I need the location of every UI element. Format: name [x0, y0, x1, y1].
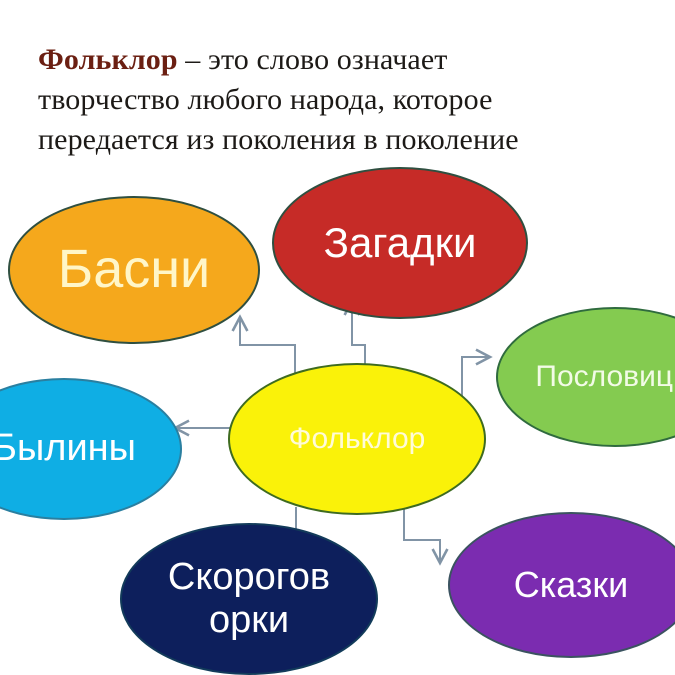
folklore-mind-map-slide: Фольклор – это слово означает творчество… [0, 0, 675, 675]
node-basni[interactable]: Басни [8, 196, 260, 344]
node-folklor-label: Фольклор [283, 422, 432, 456]
node-zagadki[interactable]: Загадки [272, 167, 528, 319]
node-skazki-label: Сказки [508, 564, 635, 605]
connector-folklor-skazki [404, 500, 440, 562]
node-byliny-label: Былины [0, 427, 142, 470]
node-folklor-center[interactable]: Фольклор [228, 363, 486, 515]
node-skorogovorki[interactable]: Скороговорки [120, 523, 378, 675]
node-zagadki-label: Загадки [318, 219, 483, 267]
node-poslovitsy-label: Пословицы [529, 360, 675, 394]
node-skorogovorki-label: Скороговорки [156, 556, 343, 643]
node-basni-label: Басни [52, 239, 216, 301]
